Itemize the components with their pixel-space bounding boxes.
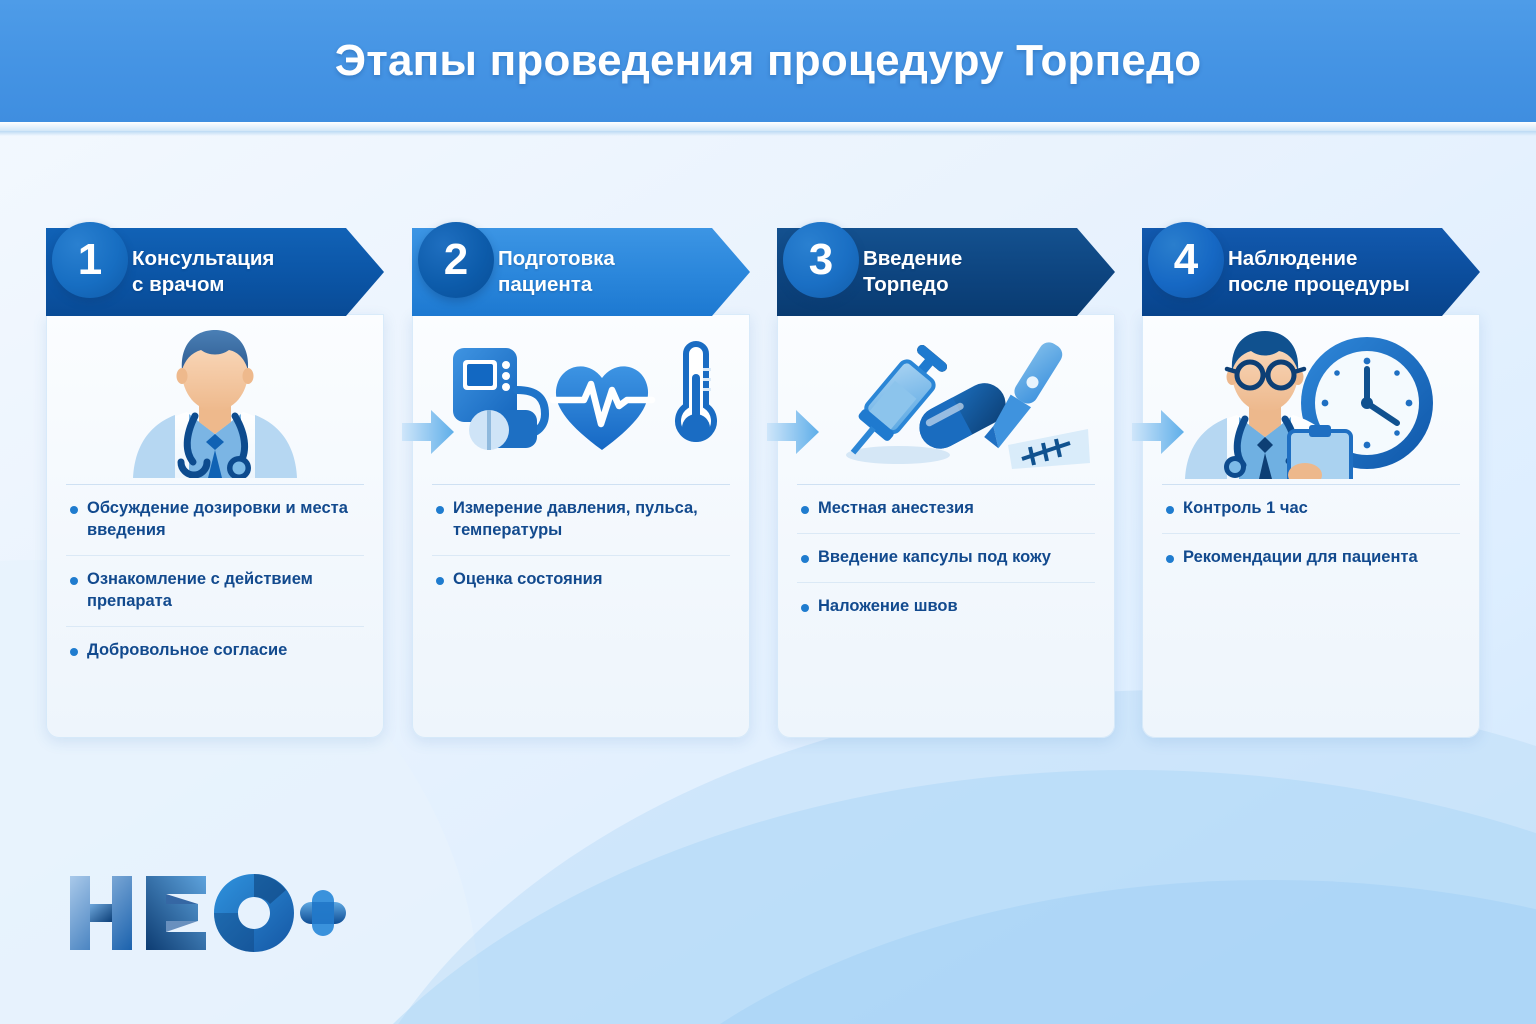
step-number-badge-3: 3	[783, 222, 859, 298]
bullet-text: Введение капсулы под кожу	[818, 547, 1051, 569]
bullet-dot-icon	[436, 506, 444, 514]
step-illustration-4	[1142, 314, 1480, 484]
step-title-2: Подготовка пациента	[498, 246, 615, 298]
header-divider	[0, 122, 1536, 131]
bullet-item: Рекомендации для пациента	[1162, 533, 1460, 582]
step-card-3[interactable]: 3 Введение Торпедо	[777, 228, 1115, 738]
arrow-step3-to-step4	[1132, 410, 1184, 454]
infographic-canvas: Этапы проведения процедуру Торпедо 1 Кон…	[0, 0, 1536, 1024]
bullet-text: Добровольное согласие	[87, 640, 287, 662]
background-arc-decoration	[250, 770, 1536, 1024]
bullet-text: Измерение давления, пульса, температуры	[453, 498, 730, 542]
background-arc-decoration	[520, 880, 1536, 1024]
bullet-text: Оценка состояния	[453, 569, 602, 591]
step-number-2: 2	[444, 235, 468, 285]
bullet-dot-icon	[70, 506, 78, 514]
step-number-badge-4: 4	[1148, 222, 1224, 298]
bullet-item: Ознакомление с действием препарата	[66, 555, 364, 626]
step-number-badge-2: 2	[418, 222, 494, 298]
bullet-text: Местная анестезия	[818, 498, 974, 520]
bullet-item: Оценка состояния	[432, 555, 730, 604]
step-body-2: Измерение давления, пульса, температуры …	[412, 314, 750, 738]
bullet-dot-icon	[801, 604, 809, 612]
bullet-dot-icon	[70, 648, 78, 656]
step-card-4[interactable]: 4 Наблюдение после процедуры	[1142, 228, 1480, 738]
bullet-item: Местная анестезия	[797, 484, 1095, 533]
steps-container: 1 Консультация с врачом	[46, 228, 1490, 738]
page-title: Этапы проведения процедуру Торпедо	[335, 36, 1202, 86]
bullet-dot-icon	[801, 506, 809, 514]
step-title-1: Консультация с врачом	[132, 246, 274, 298]
bullet-text: Контроль 1 час	[1183, 498, 1308, 520]
step-card-2[interactable]: 2 Подготовка пациента	[412, 228, 750, 738]
doctor-clipboard-clock-icon	[1171, 327, 1451, 479]
step-number-1: 1	[78, 235, 102, 285]
step-bullets-3: Местная анестезия Введение капсулы под к…	[777, 484, 1115, 645]
bullet-item: Добровольное согласие	[66, 626, 364, 675]
bullet-item: Контроль 1 час	[1162, 484, 1460, 533]
step-title-4: Наблюдение после процедуры	[1228, 246, 1410, 298]
header-divider-shadow	[0, 131, 1536, 136]
step-bullets-2: Измерение давления, пульса, температуры …	[412, 484, 750, 618]
bullet-item: Обсуждение дозировки и места введения	[66, 484, 364, 555]
step-body-4: Контроль 1 час Рекомендации для пациента	[1142, 314, 1480, 738]
step-number-3: 3	[809, 235, 833, 285]
background-arc-decoration	[320, 690, 1536, 1024]
step-banner-4: 4 Наблюдение после процедуры	[1142, 228, 1480, 316]
step-illustration-1	[46, 314, 384, 484]
arrow-step1-to-step2	[402, 410, 454, 454]
bullet-text: Ознакомление с действием препарата	[87, 569, 364, 613]
bullet-item: Наложение швов	[797, 582, 1095, 631]
step-title-3: Введение Торпедо	[863, 246, 962, 298]
bullet-dot-icon	[801, 555, 809, 563]
bullet-dot-icon	[1166, 506, 1174, 514]
bullet-dot-icon	[1166, 555, 1174, 563]
step-body-3: Местная анестезия Введение капсулы под к…	[777, 314, 1115, 738]
bullet-dot-icon	[436, 577, 444, 585]
step-illustration-2	[412, 314, 750, 484]
step-number-4: 4	[1174, 235, 1198, 285]
step-banner-1: 1 Консультация с врачом	[46, 228, 384, 316]
step-banner-3: 3 Введение Торпедо	[777, 228, 1115, 316]
doctor-stethoscope-icon	[109, 328, 321, 478]
bullet-text: Рекомендации для пациента	[1183, 547, 1418, 569]
step-bullets-4: Контроль 1 час Рекомендации для пациента	[1142, 484, 1480, 596]
arrow-step2-to-step3	[767, 410, 819, 454]
syringe-capsule-scalpel-icon	[802, 333, 1090, 473]
bullet-text: Наложение швов	[818, 596, 958, 618]
step-number-badge-1: 1	[52, 222, 128, 298]
step-illustration-3	[777, 314, 1115, 484]
bullet-item: Измерение давления, пульса, температуры	[432, 484, 730, 555]
step-body-1: Обсуждение дозировки и места введения Оз…	[46, 314, 384, 738]
step-bullets-1: Обсуждение дозировки и места введения Оз…	[46, 484, 384, 689]
bullet-dot-icon	[70, 577, 78, 585]
blood-pressure-heart-thermometer-icon	[441, 338, 721, 468]
bullet-item: Введение капсулы под кожу	[797, 533, 1095, 582]
brand-logo[interactable]	[68, 870, 348, 956]
bullet-text: Обсуждение дозировки и места введения	[87, 498, 364, 542]
neo-plus-logo-icon	[68, 870, 348, 956]
step-card-1[interactable]: 1 Консультация с врачом	[46, 228, 384, 738]
page-header: Этапы проведения процедуру Торпедо	[0, 0, 1536, 122]
step-banner-2: 2 Подготовка пациента	[412, 228, 750, 316]
